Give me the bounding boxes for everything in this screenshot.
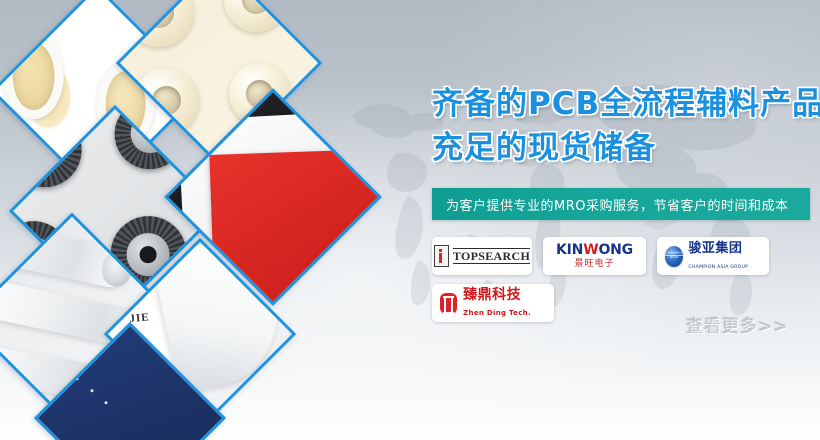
zhen-ding-name-en: Zhen Ding Tech. bbox=[463, 309, 531, 317]
topsearch-wordmark: TOPSEARCH bbox=[453, 248, 530, 264]
paper-print-label: JIE bbox=[129, 311, 150, 325]
zhen-ding-name-cn: 臻鼎科技 bbox=[463, 287, 521, 303]
champion-asia-name-cn: 骏亚集团 bbox=[688, 241, 742, 256]
champion-asia-name-en: CHAMPION ASIA GROUP bbox=[688, 265, 748, 270]
headline-line-1: 齐备的PCB全流程辅料产品、 bbox=[432, 86, 820, 122]
kinwong-wordmark-icon: KINWONG bbox=[556, 243, 633, 257]
banner-subtitle-text: 为客户提供专业的MRO采购服务，节省客户的时间和成本 bbox=[446, 195, 788, 214]
client-logo-kinwong[interactable]: KINWONG 景旺电子 bbox=[543, 237, 646, 275]
headline-line-2: 充足的现货储备 bbox=[432, 126, 814, 170]
client-logo-grid: TOPSEARCH KINWONG 景旺电子 骏亚集团 CHAMPION ASI bbox=[432, 237, 814, 322]
topsearch-mark-icon bbox=[434, 245, 449, 267]
banner-subtitle-bar: 为客户提供专业的MRO采购服务，节省客户的时间和成本 bbox=[432, 188, 810, 220]
bushing-icon bbox=[224, 0, 288, 32]
client-logo-row: TOPSEARCH KINWONG 景旺电子 骏亚集团 CHAMPION ASI bbox=[432, 237, 814, 275]
globe-icon bbox=[665, 246, 683, 267]
kinwong-name-cn: 景旺电子 bbox=[556, 260, 633, 269]
banner-headline: 齐备的PCB全流程辅料产品、 充足的现货储备 bbox=[432, 82, 814, 170]
client-logo-topsearch[interactable]: TOPSEARCH bbox=[432, 237, 532, 275]
zhen-ding-mark-icon bbox=[440, 293, 457, 314]
client-logo-champion-asia[interactable]: 骏亚集团 CHAMPION ASIA GROUP bbox=[657, 237, 769, 275]
banner-copy: 齐备的PCB全流程辅料产品、 充足的现货储备 为客户提供专业的MRO采购服务，节… bbox=[432, 82, 814, 322]
product-collage: JIE bbox=[0, 0, 400, 440]
view-more-link[interactable]: 查看更多>> bbox=[686, 312, 789, 337]
tape-roll-icon bbox=[4, 32, 64, 118]
client-logo-zhen-ding[interactable]: 臻鼎科技 Zhen Ding Tech. bbox=[432, 284, 554, 322]
promo-banner: JIE 齐备的PCB全流程辅料产品、 充足的现货储备 为客户提供专业的MRO采购… bbox=[0, 0, 820, 440]
